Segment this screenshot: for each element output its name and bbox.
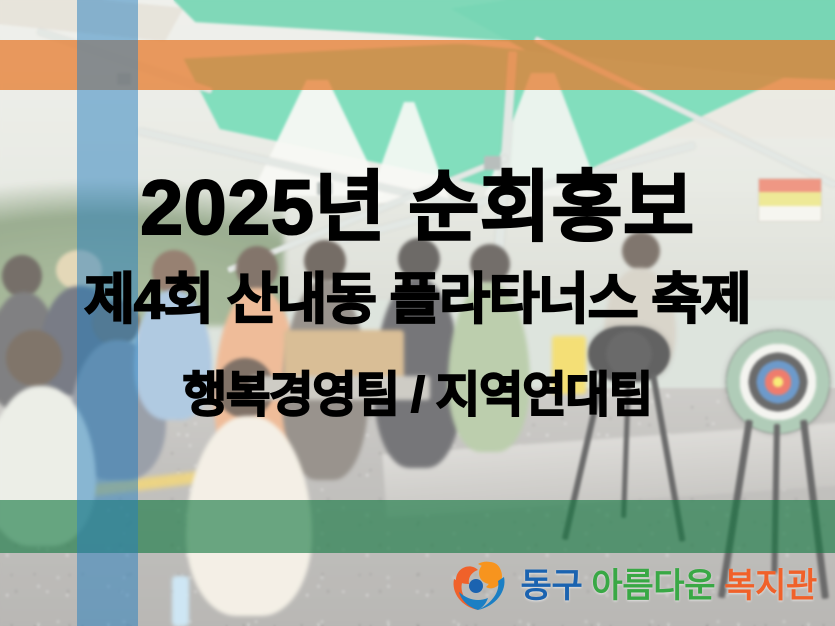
headline-line-2: 제4회 산내동 플라타너스 축제 bbox=[0, 272, 835, 327]
logo-word-donggu: 동구 bbox=[521, 569, 583, 603]
organization-logo: 동구 아름다운 복지관 bbox=[448, 560, 817, 612]
embrace-heart-icon bbox=[448, 560, 510, 612]
logo-wordmark: 동구 아름다운 복지관 bbox=[521, 569, 817, 603]
headline-line-3: 행복경영팀 / 지역연대팀 bbox=[0, 372, 835, 420]
logo-word-bokjigwan: 복지관 bbox=[724, 569, 817, 603]
logo-word-areumdaun: 아름다운 bbox=[591, 569, 715, 603]
event-poster: 2025년 순회홍보 제4회 산내동 플라타너스 축제 행복경영팀 / 지역연대… bbox=[0, 0, 835, 626]
headline-line-1: 2025년 순회홍보 bbox=[0, 170, 835, 247]
headline-group: 2025년 순회홍보 제4회 산내동 플라타너스 축제 행복경영팀 / 지역연대… bbox=[0, 0, 835, 626]
